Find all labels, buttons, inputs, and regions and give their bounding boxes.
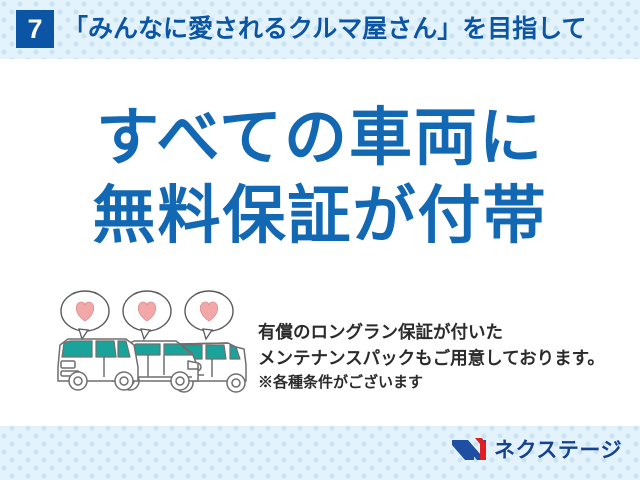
headline-line-1: すべての車両に	[0, 99, 640, 177]
description-line-1: 有償のロングラン保証が付いた	[258, 319, 605, 345]
section-number-badge: 7	[16, 10, 54, 48]
car-kei-wagon	[58, 339, 138, 390]
cars-svg	[52, 287, 252, 399]
content-card: すべての車両に 無料保証が付帯	[0, 59, 640, 426]
description-block: 有償のロングラン保証が付いた メンテナンスパックもご用意しております。 ※各種条…	[258, 319, 605, 395]
brand-logo: ネクステージ	[451, 434, 622, 464]
cars-illustration	[52, 287, 252, 399]
description-line-2: メンテナンスパックもご用意しております。	[258, 345, 605, 371]
description-note: ※各種条件がございます	[258, 371, 605, 395]
header-band: 7 「みんなに愛されるクルマ屋さん」を目指して	[0, 0, 640, 59]
brand-name: ネクステージ	[494, 434, 622, 464]
headline-line-2: 無料保証が付帯	[0, 177, 640, 255]
lower-section: 有償のロングラン保証が付いた メンテナンスパックもご用意しております。 ※各種条…	[0, 287, 640, 407]
nexstage-n-icon	[451, 436, 487, 462]
header-title: 「みんなに愛されるクルマ屋さん」を目指して	[63, 13, 587, 45]
headline-block: すべての車両に 無料保証が付帯	[0, 99, 640, 255]
promo-poster: 7 「みんなに愛されるクルマ屋さん」を目指して すべての車両に 無料保証が付帯	[0, 0, 640, 480]
footer-band: ネクステージ	[0, 426, 640, 480]
